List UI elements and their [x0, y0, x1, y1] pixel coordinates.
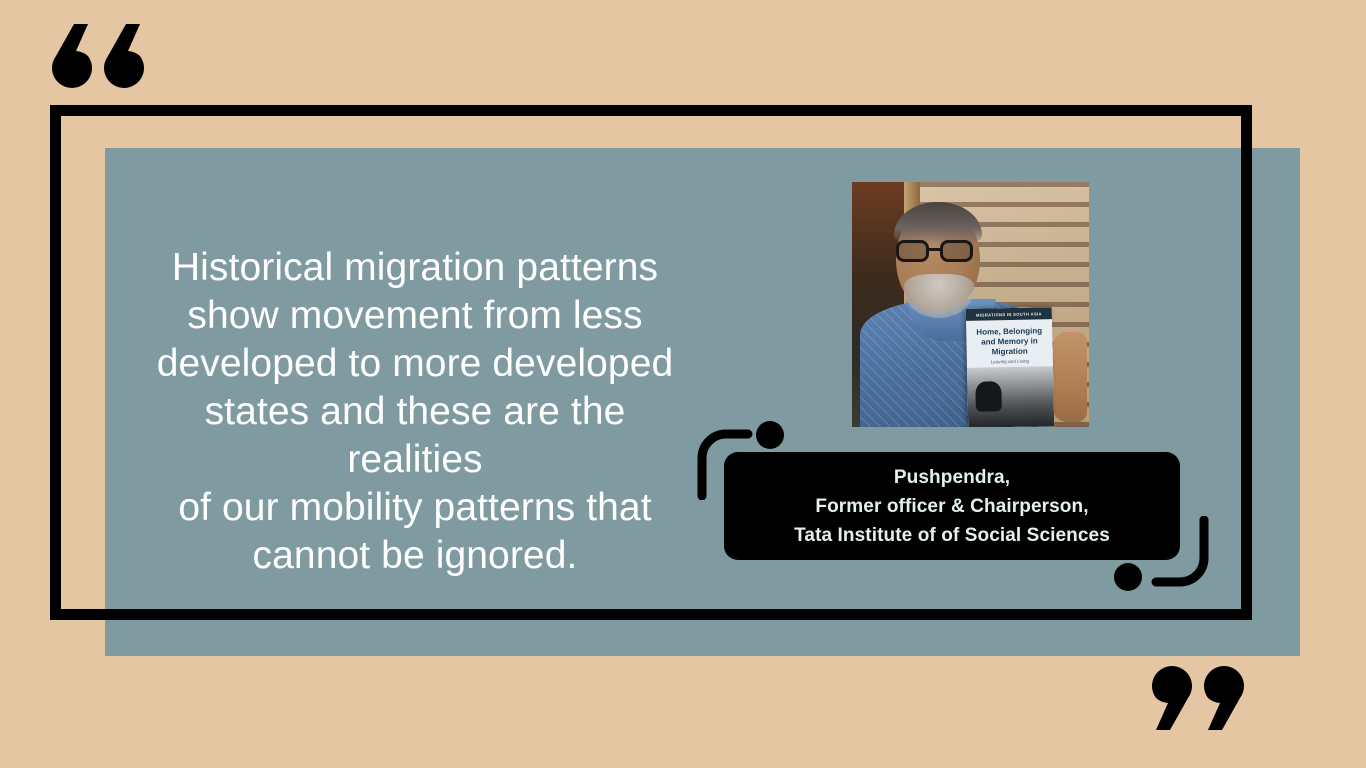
book-cover-photo: [967, 366, 1054, 427]
glasses-lens-right: [940, 240, 973, 262]
quote-card: Historical migration patterns show movem…: [0, 0, 1366, 768]
person-hand: [1053, 332, 1087, 422]
attribution-box: Pushpendra, Former officer & Chairperson…: [724, 452, 1180, 560]
close-quote-mark-icon: [1152, 664, 1248, 732]
quote-text: Historical migration patterns show movem…: [140, 244, 690, 580]
glasses-bridge: [929, 248, 940, 251]
open-quote-mark-icon: [52, 22, 148, 90]
portrait-photo: MIGRATIONS IN SOUTH ASIA Home, Belonging…: [852, 182, 1089, 427]
book-cover: MIGRATIONS IN SOUTH ASIA Home, Belonging…: [966, 307, 1054, 427]
glasses-icon: [896, 240, 982, 262]
attribution-text: Pushpendra, Former officer & Chairperson…: [794, 463, 1110, 550]
book-title: Home, Belonging and Memory in Migration: [966, 319, 1053, 360]
glasses-lens-left: [896, 240, 929, 262]
